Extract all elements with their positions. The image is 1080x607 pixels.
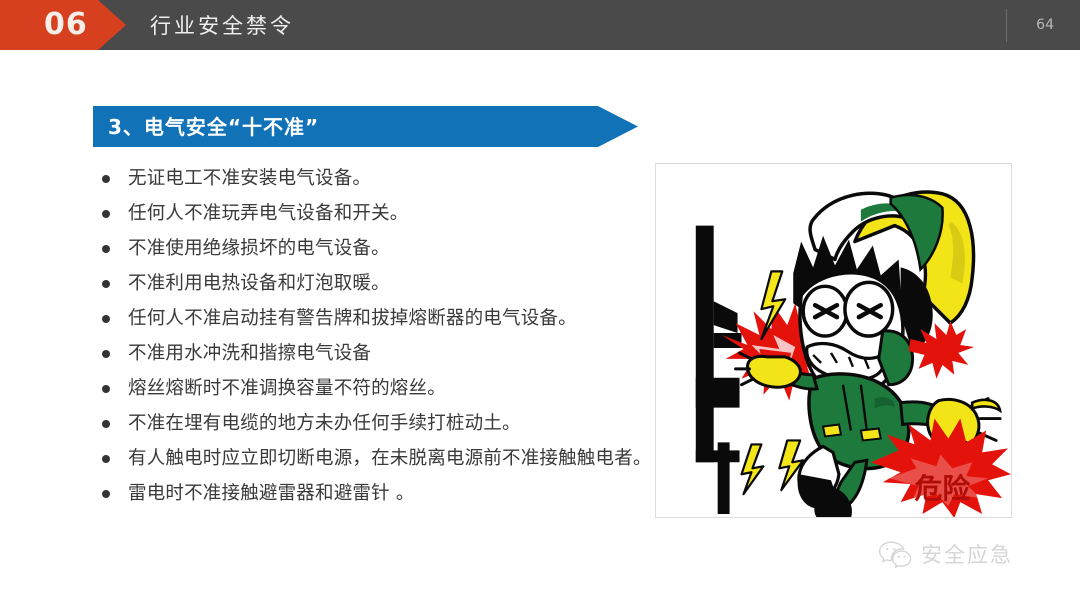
list-item: 不准在埋有电缆的地方未办任何手续打桩动土。 [96,409,656,438]
watermark-label: 安全应急 [921,545,1013,566]
list-item-text: 有人触电时应立即切断电源，在未脱离电源前不准接触触电者。 [128,448,652,469]
section-banner-label: 3、电气安全“十不准” [108,117,319,137]
list-item-text: 不准使用绝缘损坏的电气设备。 [128,238,390,259]
list-item-text: 不准在埋有电缆的地方未办任何手续打桩动土。 [128,413,521,434]
list-item-text: 不准利用电热设备和灯泡取暖。 [128,273,390,294]
electric-shock-illustration: 危险 [655,163,1012,518]
list-item: 有人触电时应立即切断电源，在未脱离电源前不准接触触电者。 [96,444,656,473]
page-header: 06 行业安全禁令 64 [0,0,1080,50]
bullet-dot-icon [102,490,110,498]
list-item: 雷电时不准接触避雷器和避雷针 。 [96,479,656,508]
bullet-dot-icon [102,280,110,288]
electrocution-cartoon-icon: 危险 [656,164,1011,517]
list-item-text: 任何人不准启动挂有警告牌和拔掉熔断器的电气设备。 [128,308,577,329]
list-item-text: 熔丝熔断时不准调换容量不符的熔丝。 [128,378,446,399]
header-divider [1006,9,1007,42]
list-item-text: 任何人不准玩弄电气设备和开关。 [128,203,409,224]
bullet-dot-icon [102,315,110,323]
list-item-text: 雷电时不准接触避雷器和避雷针 。 [128,483,415,504]
danger-label: 危险 [915,472,971,505]
header-number-label: 06 [44,10,88,40]
watermark: 安全应急 [878,540,1013,570]
bullet-dot-icon [102,350,110,358]
list-item: 任何人不准启动挂有警告牌和拔掉熔断器的电气设备。 [96,304,656,333]
list-item: 不准用水冲洗和揩擦电气设备 [96,339,656,368]
bullet-dot-icon [102,420,110,428]
bullet-dot-icon [102,455,110,463]
list-item: 不准使用绝缘损坏的电气设备。 [96,234,656,263]
list-item: 不准利用电热设备和灯泡取暖。 [96,269,656,298]
header-number-badge: 06 [0,0,126,50]
list-item: 熔丝熔断时不准调换容量不符的熔丝。 [96,374,656,403]
list-item: 任何人不准玩弄电气设备和开关。 [96,199,656,228]
list-item: 无证电工不准安装电气设备。 [96,164,656,193]
page-number: 64 [1036,0,1054,50]
bullet-dot-icon [102,210,110,218]
bullet-dot-icon [102,245,110,253]
bullet-dot-icon [102,175,110,183]
list-item-text: 不准用水冲洗和揩擦电气设备 [128,343,371,364]
bullet-dot-icon [102,385,110,393]
section-banner: 3、电气安全“十不准” [93,106,638,147]
list-item-text: 无证电工不准安装电气设备。 [128,168,371,189]
wechat-icon [878,540,912,570]
rules-list: 无证电工不准安装电气设备。 任何人不准玩弄电气设备和开关。 不准使用绝缘损坏的电… [96,164,656,514]
page-title: 行业安全禁令 [150,0,294,50]
